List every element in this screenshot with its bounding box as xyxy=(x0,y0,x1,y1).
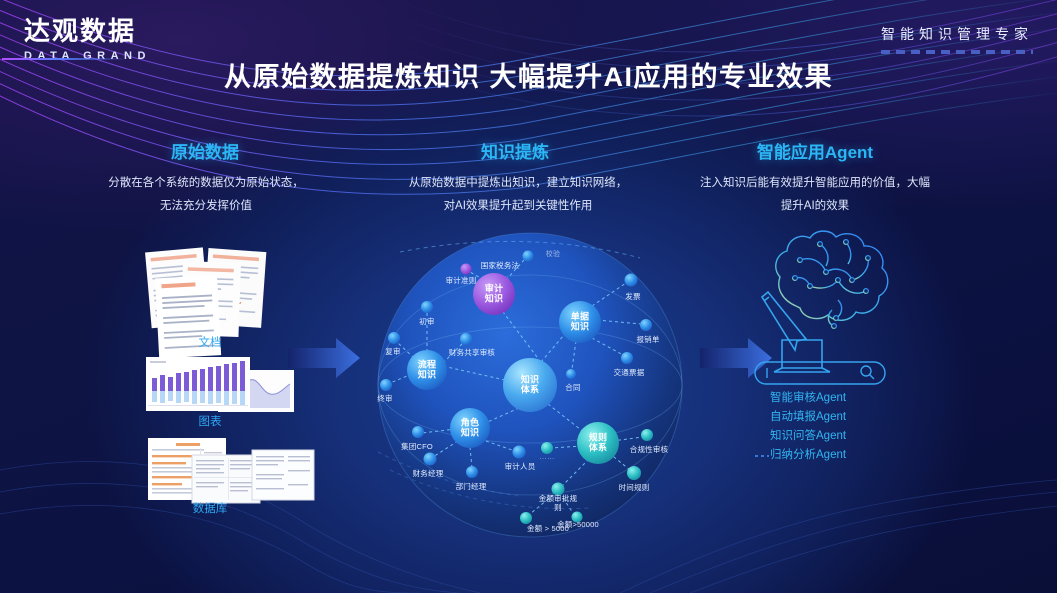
slide-canvas: 达观数据 DATA GRAND 智能知识管理专家 从原始数据提炼知识 大幅提升A… xyxy=(0,0,1057,593)
brand-name-cn: 达观数据 xyxy=(24,18,151,45)
graph-leaf-dept-manager: 部门经理 xyxy=(456,481,487,492)
source-label-database: 数据库 xyxy=(150,500,270,516)
graph-hub-rule[interactable]: 规则体系 xyxy=(589,433,608,454)
slogan-text: 智能知识管理专家 xyxy=(881,24,1033,44)
graph-leaf-first-review: 初审 xyxy=(419,316,434,327)
brain-agent-illustration xyxy=(776,231,888,328)
agent-item-analysis[interactable]: 归纳分析Agent xyxy=(770,446,930,462)
graph-leaf-contract: 合同 xyxy=(565,382,580,393)
source-label-documents: 文档 xyxy=(150,334,270,350)
column-desc-agent: 注入知识后能有效提升智能应用的价值，大幅提升AI的效果 xyxy=(700,172,930,218)
graph-hub-process[interactable]: 流程知识 xyxy=(418,360,437,381)
flow-arrow-2 xyxy=(700,338,772,378)
graph-leaf-auditor: 审计人员 xyxy=(505,461,536,472)
graph-leaf-compliance: 合规性审核 xyxy=(630,444,669,455)
slogan-dashed-rule xyxy=(881,50,1033,54)
graph-edge-label-verify: 校验 xyxy=(546,249,560,259)
graph-leaf-shared-audit: 财务共享审核 xyxy=(449,347,495,358)
brand-slogan: 智能知识管理专家 xyxy=(881,24,1033,54)
graph-leaf-audit-standard: 审计准则 xyxy=(446,275,477,286)
source-label-charts: 图表 xyxy=(150,413,270,429)
agent-item-qa[interactable]: 知识问答Agent xyxy=(770,427,930,443)
graph-hub-bill[interactable]: 单据知识 xyxy=(571,312,590,333)
charts-icon xyxy=(146,357,294,412)
database-icon xyxy=(148,438,314,503)
laptop-icon xyxy=(774,340,830,372)
column-title-raw-data: 原始数据 xyxy=(120,138,290,163)
graph-hub-audit[interactable]: 审计知识 xyxy=(485,284,504,305)
agent-item-filling[interactable]: 自动填报Agent xyxy=(770,408,930,424)
graph-leaf-invoice: 发票 xyxy=(625,291,640,302)
graph-leaf-transport-doc: 交通票据 xyxy=(614,367,645,378)
graph-leaf-expense-form: 报销单 xyxy=(636,334,659,345)
graph-node-center[interactable]: 知识体系 xyxy=(521,375,540,396)
column-title-agent: 智能应用Agent xyxy=(715,138,915,163)
agent-list-dash xyxy=(755,455,769,457)
graph-leaf-finance-manager: 财务经理 xyxy=(413,468,444,479)
agent-item-review[interactable]: 智能审核Agent xyxy=(770,389,930,405)
graph-leaf-tax-law: 国家税务法 xyxy=(481,260,520,271)
column-title-knowledge-extraction: 知识提炼 xyxy=(430,138,600,163)
search-bar-icon xyxy=(755,362,885,384)
graph-leaf-final-review: 终审 xyxy=(377,393,392,404)
graph-hub-role[interactable]: 角色知识 xyxy=(461,418,480,439)
graph-leaf-amount-50000: 金额>50000 xyxy=(557,521,599,530)
graph-leaf-ellipsis: …… xyxy=(539,452,554,461)
column-desc-raw-data: 分散在各个系统的数据仅为原始状态，无法充分发挥价值 xyxy=(108,172,304,218)
pencil-icon xyxy=(762,292,806,350)
graph-leaf-second-review: 复审 xyxy=(385,346,400,357)
graph-leaf-time-rule: 时间规则 xyxy=(619,482,650,493)
graph-leaf-amount-rule: 金额审批规则 xyxy=(537,495,579,512)
flow-arrow-1 xyxy=(288,338,360,378)
column-desc-knowledge-extraction: 从原始数据中提炼出知识，建立知识网络，对AI效果提升起到关键性作用 xyxy=(408,172,628,218)
graph-leaf-group-cfo: 集团CFO xyxy=(401,441,433,452)
page-title: 从原始数据提炼知识 大幅提升AI应用的专业效果 xyxy=(0,55,1057,94)
